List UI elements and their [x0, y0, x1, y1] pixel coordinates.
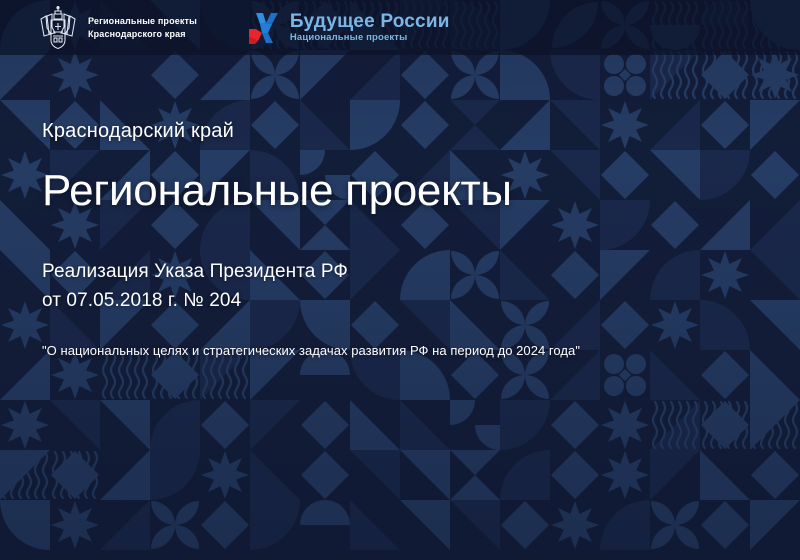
decree-line-2: от 07.05.2018 г. № 204: [42, 286, 580, 315]
krasnodar-coat-of-arms-icon: [38, 6, 78, 50]
slide-root: Региональные проекты Краснодарского края…: [0, 0, 800, 560]
krasnodar-line-1: Региональные проекты: [88, 15, 197, 28]
region-label: Краснодарский край: [42, 120, 580, 143]
national-projects-brand: Будущее России Национальные проекты: [247, 11, 450, 45]
krasnodar-brand: Региональные проекты Краснодарского края: [38, 6, 197, 50]
header-bar: Региональные проекты Краснодарского края…: [0, 0, 800, 55]
decree-line-1: Реализация Указа Президента РФ: [42, 257, 580, 286]
national-projects-text: Будущее России Национальные проекты: [290, 12, 450, 43]
national-projects-title: Будущее России: [290, 12, 450, 31]
main-content: Краснодарский край Региональные проекты …: [42, 120, 580, 358]
national-projects-subtitle: Национальные проекты: [290, 33, 450, 43]
decree-reference: Реализация Указа Президента РФ от 07.05.…: [42, 257, 580, 315]
national-projects-logo-icon: [247, 11, 283, 45]
krasnodar-line-2: Краснодарского края: [88, 28, 197, 41]
page-title: Региональные проекты: [42, 169, 580, 213]
decree-quote: "О национальных целях и стратегических з…: [42, 343, 580, 358]
krasnodar-brand-text: Региональные проекты Краснодарского края: [88, 15, 197, 41]
